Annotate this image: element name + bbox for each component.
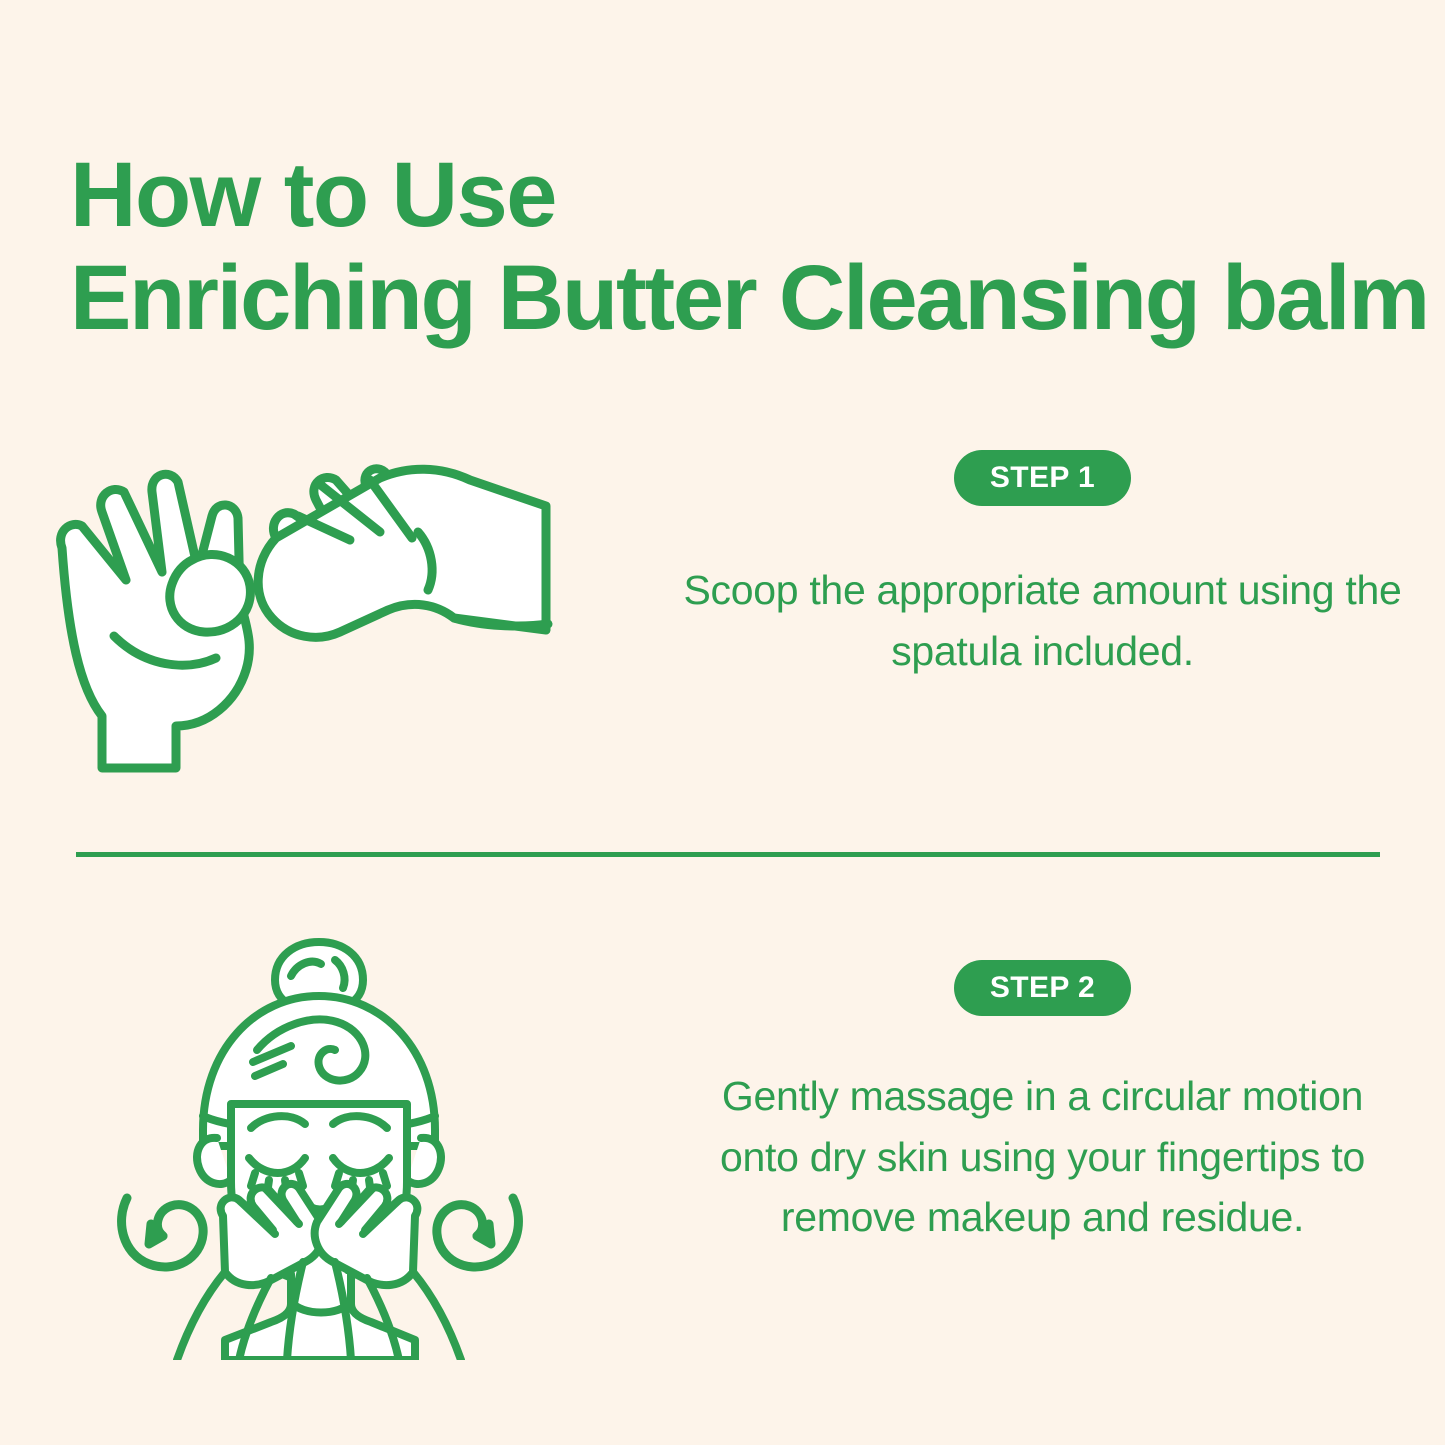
step-1-badge: STEP 1 <box>954 450 1131 506</box>
page-title-line-1: How to Use <box>70 144 1400 247</box>
step-2-row: STEP 2 Gently massage in a circular moti… <box>0 930 1445 1390</box>
step-2-description: Gently massage in a circular motion onto… <box>683 1066 1403 1248</box>
how-to-use-infographic: How to Use Enriching Butter Cleansing ba… <box>0 0 1445 1445</box>
page-title-line-2: Enriching Butter Cleansing balm <box>70 247 1400 350</box>
woman-massaging-face-icon <box>105 930 535 1360</box>
swirl-arrow-left-icon <box>122 1198 204 1267</box>
hands-scooping-balm-icon <box>40 420 600 780</box>
step-2-text-container: STEP 2 Gently massage in a circular moti… <box>640 930 1445 1248</box>
step-1-text-container: STEP 1 Scoop the appropriate amount usin… <box>640 420 1445 681</box>
step-1-row: STEP 1 Scoop the appropriate amount usin… <box>0 420 1445 820</box>
swirl-arrow-right-icon <box>437 1198 519 1267</box>
step-1-illustration-container <box>0 420 640 780</box>
page-title: How to Use Enriching Butter Cleansing ba… <box>70 144 1400 350</box>
step-2-badge: STEP 2 <box>954 960 1131 1016</box>
section-divider <box>76 852 1380 857</box>
step-1-description: Scoop the appropriate amount using the s… <box>683 560 1403 681</box>
step-2-illustration-container <box>0 930 640 1360</box>
